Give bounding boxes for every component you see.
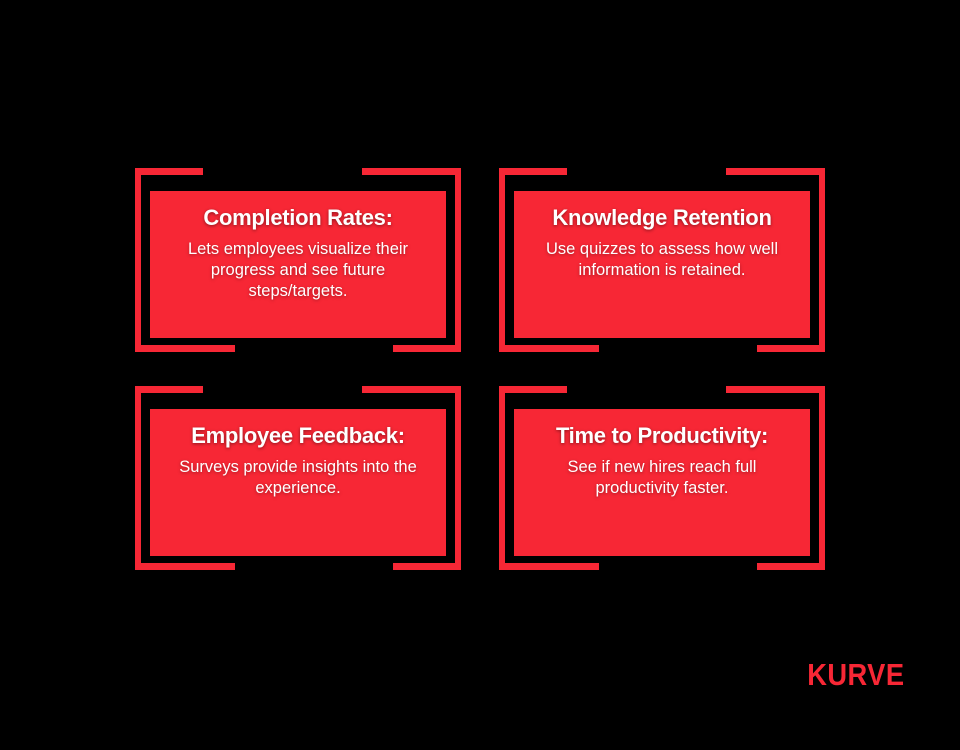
card-title: Completion Rates: [203,205,392,230]
card-knowledge-retention[interactable]: Knowledge Retention Use quizzes to asses… [499,168,825,352]
card-body: Surveys provide insights into the experi… [167,457,429,499]
frame-top-left-segment [135,386,203,393]
frame-right-bar [455,168,461,352]
card-body: Use quizzes to assess how well informati… [531,239,793,281]
frame-right-bar [819,386,825,570]
card-panel: Time to Productivity: See if new hires r… [514,409,810,556]
frame-top-right-segment [726,168,825,175]
frame-left-bar [499,386,505,570]
frame-bottom-left-segment [135,345,235,352]
frame-bottom-left-segment [135,563,235,570]
frame-left-bar [135,168,141,352]
frame-left-bar [135,386,141,570]
frame-right-bar [455,386,461,570]
card-title: Time to Productivity: [556,423,768,448]
brand-logo: KURVE [807,659,904,690]
card-employee-feedback[interactable]: Employee Feedback: Surveys provide insig… [135,386,461,570]
frame-bottom-right-segment [393,563,461,570]
frame-top-right-segment [362,168,461,175]
frame-bottom-left-segment [499,563,599,570]
slide-canvas: Completion Rates: Lets employees visuali… [0,0,960,750]
frame-right-bar [819,168,825,352]
card-panel: Completion Rates: Lets employees visuali… [150,191,446,338]
card-completion-rates[interactable]: Completion Rates: Lets employees visuali… [135,168,461,352]
card-panel: Employee Feedback: Surveys provide insig… [150,409,446,556]
frame-bottom-right-segment [393,345,461,352]
frame-top-right-segment [362,386,461,393]
card-title: Knowledge Retention [552,205,771,230]
frame-bottom-right-segment [757,345,825,352]
card-body: Lets employees visualize their progress … [167,239,429,302]
frame-top-left-segment [135,168,203,175]
card-panel: Knowledge Retention Use quizzes to asses… [514,191,810,338]
frame-left-bar [499,168,505,352]
card-title: Employee Feedback: [191,423,404,448]
frame-top-right-segment [726,386,825,393]
card-time-to-productivity[interactable]: Time to Productivity: See if new hires r… [499,386,825,570]
frame-top-left-segment [499,168,567,175]
frame-bottom-right-segment [757,563,825,570]
card-body: See if new hires reach full productivity… [531,457,793,499]
frame-bottom-left-segment [499,345,599,352]
frame-top-left-segment [499,386,567,393]
